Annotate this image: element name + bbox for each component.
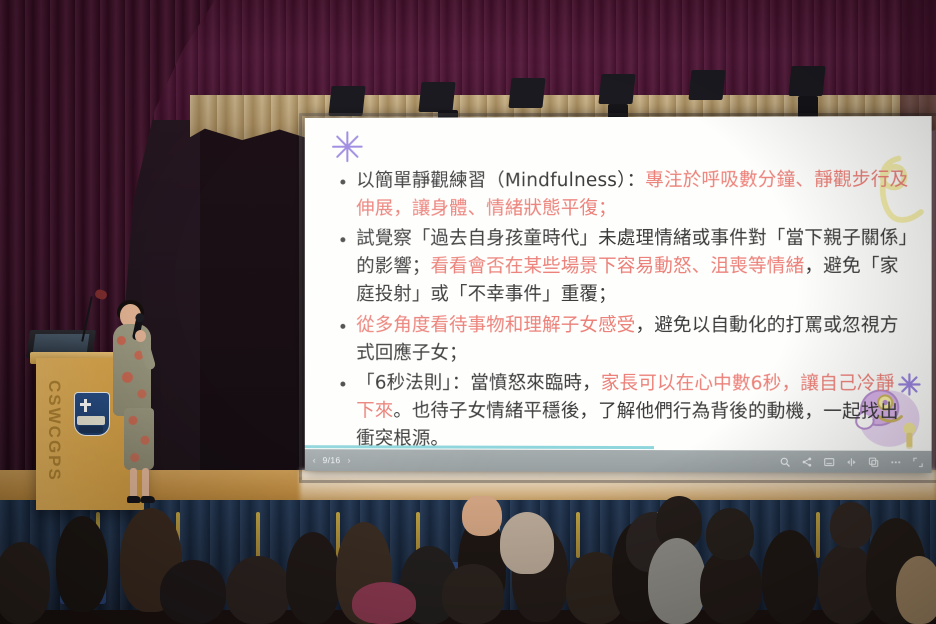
stage-light-housing xyxy=(418,82,455,112)
podium-school-acronym: CSWCGPS xyxy=(44,380,64,482)
bullet-item: 「6秒法則」：當憤怒來臨時，家長可以在心中數6秒，讓自己冷靜下來。也待子女情緒平… xyxy=(336,369,911,455)
audience-head xyxy=(762,530,818,624)
bullet-segment: 。也待子女情緒平穩後，了解他們行為背後的動機，一起找出衝突根源。 xyxy=(356,400,898,449)
audience-head xyxy=(500,512,554,574)
slide-viewer-toolbar[interactable]: ‹ 9/16 › xyxy=(305,449,932,473)
sparkle-icon xyxy=(331,130,365,164)
page-indicator: 9/16 xyxy=(323,455,341,465)
bullet-item: 試覺察「過去自身孩童時代」未處理情緒或事件對「當下親子關係」的影響；看看會否在某… xyxy=(336,225,911,310)
audience-head xyxy=(706,508,754,560)
more-options-icon[interactable] xyxy=(890,456,901,467)
fit-width-icon[interactable] xyxy=(846,456,857,467)
audience-head xyxy=(160,560,226,624)
audience-head xyxy=(896,556,936,624)
crest-base xyxy=(79,426,103,433)
audience-head xyxy=(442,564,504,624)
audience-head xyxy=(286,532,340,624)
stage-light-housing xyxy=(688,70,725,100)
stage-light-housing xyxy=(598,74,635,104)
speaker-dress xyxy=(124,408,154,470)
audience xyxy=(0,496,936,624)
bullet-segment-highlight: 看看會否在某些場景下容易動怒、沮喪等情緒 xyxy=(430,256,804,277)
toolbar-navigation: ‹ 9/16 › xyxy=(313,455,351,465)
slide-progress-fill xyxy=(305,445,654,449)
present-icon[interactable] xyxy=(824,456,835,467)
share-icon[interactable] xyxy=(802,456,813,467)
toolbar-actions xyxy=(779,456,923,467)
audience-head xyxy=(648,538,706,624)
stage-light-housing xyxy=(328,86,365,116)
laptop-screen xyxy=(33,334,90,353)
bullet-segment: 以簡單靜觀練習（Mindfulness）： xyxy=(356,170,645,192)
next-slide-button[interactable]: › xyxy=(348,455,351,465)
audience-head xyxy=(352,582,416,624)
bullet-item: 以簡單靜觀練習（Mindfulness）：專注於呼吸數分鐘、靜觀步行及伸展，讓身… xyxy=(336,166,911,223)
duplicate-icon[interactable] xyxy=(868,456,879,467)
bullet-segment-highlight: 從多角度看待事物和理解子女感受 xyxy=(356,314,635,335)
school-crest-icon xyxy=(74,392,110,436)
slide-progress-bar[interactable] xyxy=(305,445,932,450)
slide-bullet-list: 以簡單靜觀練習（Mindfulness）：專注於呼吸數分鐘、靜觀步行及伸展，讓身… xyxy=(336,166,911,455)
crest-cross-icon xyxy=(84,399,87,412)
crest-band xyxy=(77,416,105,425)
speaker-hand xyxy=(135,330,146,342)
audience-head xyxy=(56,516,108,612)
audience-head xyxy=(462,496,502,536)
stage-light-housing xyxy=(788,66,825,96)
projection-screen[interactable]: 以簡單靜觀練習（Mindfulness）：專注於呼吸數分鐘、靜觀步行及伸展，讓身… xyxy=(305,116,932,473)
stage-light-housing xyxy=(508,78,545,108)
audience-head xyxy=(226,556,290,624)
audience-head xyxy=(0,542,50,624)
bullet-segment: 「6秒法則」：當憤怒來臨時， xyxy=(356,372,601,393)
zoom-icon[interactable] xyxy=(779,456,790,467)
audience-head xyxy=(830,502,872,548)
presentation-slide: 以簡單靜觀練習（Mindfulness）：專注於呼吸數分鐘、靜觀步行及伸展，讓身… xyxy=(305,116,932,473)
fullscreen-icon[interactable] xyxy=(912,456,923,467)
previous-slide-button[interactable]: ‹ xyxy=(313,455,316,465)
assembly-hall-photo: CSWCGPS xyxy=(0,0,936,624)
bullet-item: 從多角度看待事物和理解子女感受，避免以自動化的打罵或忽視方式回應子女； xyxy=(336,311,911,368)
